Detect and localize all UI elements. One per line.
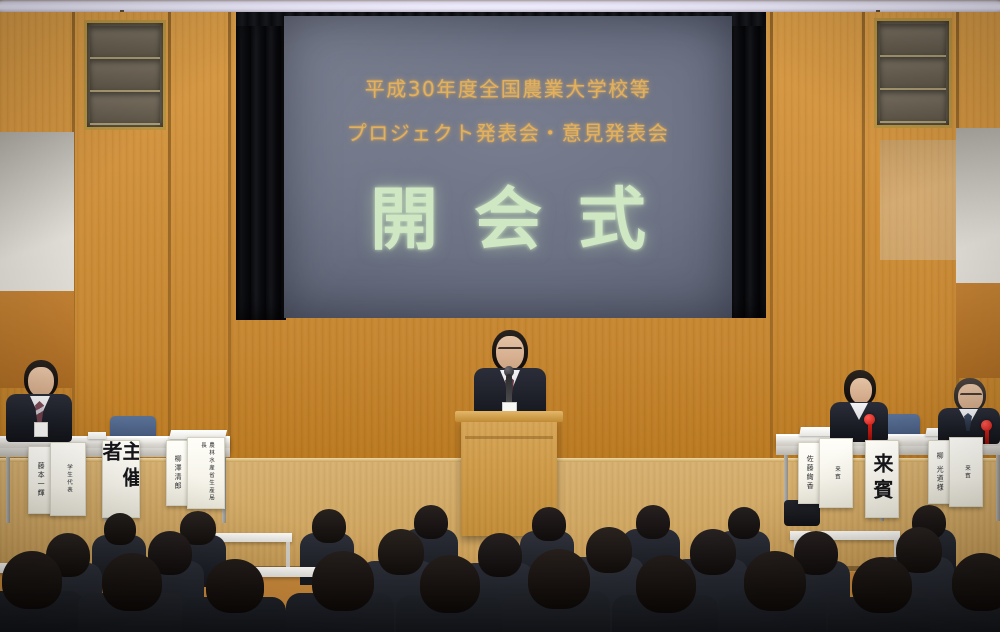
audience-person-head [744, 551, 806, 611]
right-title-sign-1-title: 来賓 [830, 462, 842, 485]
right-wall-alcove-inner [880, 140, 956, 260]
audience-person-head [636, 505, 670, 539]
speaker-face [496, 336, 524, 370]
right-guest-woman [828, 370, 890, 440]
audience-person-head [586, 527, 632, 573]
right-title-sign-2-title: 来賓 [960, 461, 972, 484]
right-title-sign-2: 来賓 [949, 437, 983, 507]
audience-person-head [528, 549, 590, 609]
screen-subtitle-line1: 平成30年度全国農業大学校等 [284, 73, 732, 102]
audience-person-head [312, 551, 374, 611]
wall-seam [168, 12, 171, 462]
speaker-glasses [498, 347, 522, 353]
guest-man-glasses [960, 393, 982, 399]
right-title-sign-1: 来賓 [819, 438, 853, 508]
auditorium-photo: 平成30年度全国農業大学校等 プロジェクト発表会・意見発表会 開会式 [0, 0, 1000, 632]
left-title-sign-2-title: 農林水産省生産局長 [196, 438, 216, 508]
left-wall-alcove [0, 132, 74, 388]
audience-person-head [636, 555, 696, 613]
audience-person-head [478, 533, 522, 577]
left-name-sign-2-name: 柳澤清郎 [171, 451, 185, 495]
audience-person-head [102, 553, 162, 611]
left-person-face [28, 367, 54, 397]
right-section-sign-label: 来賓 [872, 453, 892, 505]
audience-person-head [378, 529, 424, 575]
projection-screen: 平成30年度全国農業大学校等 プロジェクト発表会・意見発表会 開会式 [284, 16, 732, 318]
audience-person-head [206, 559, 264, 613]
left-seated-person [6, 360, 74, 442]
right-guest-man [938, 378, 1000, 442]
audience-person-head [690, 529, 736, 575]
rosette-tail [868, 424, 872, 440]
audience-person-head [414, 505, 448, 539]
wall-vent-grille-right [874, 18, 952, 128]
podium-top [455, 411, 563, 422]
left-title-sign-2: 農林水産省生産局長 [187, 437, 225, 509]
audience-person-head [2, 551, 62, 609]
left-table-cup [88, 432, 106, 439]
audience-person-head [312, 509, 346, 543]
screen-main-title: 開会式 [284, 164, 732, 263]
right-name-sign-1-name: 佐藤絢香 [803, 451, 817, 495]
stage-curtain-right [730, 12, 766, 318]
audience-area [0, 505, 1000, 632]
audience-person-head [952, 553, 1000, 611]
podium-band [465, 436, 553, 439]
audience-person-head [420, 555, 480, 613]
stage-curtain-left [236, 12, 286, 320]
wall-seam [228, 12, 231, 462]
left-name-sign-1-name: 藤本一輝 [34, 458, 48, 502]
audience-person-head [852, 557, 912, 613]
right-name-sign-2-name: 柳 光道様 [933, 448, 947, 496]
right-wall-alcove [956, 128, 1000, 378]
rosette-tail [985, 430, 989, 444]
left-person-badge [34, 422, 48, 437]
wall-vent-grille-left [84, 20, 166, 130]
audience-person-head [728, 507, 760, 539]
screen-subtitle-line2: プロジェクト発表会・意見発表会 [284, 117, 732, 146]
wall-seam [770, 12, 773, 462]
guest-woman-face [850, 378, 872, 404]
left-title-sign-1-title: 学生代表 [62, 460, 74, 498]
audience-person-head [532, 507, 566, 541]
audience-person-head [104, 513, 136, 545]
